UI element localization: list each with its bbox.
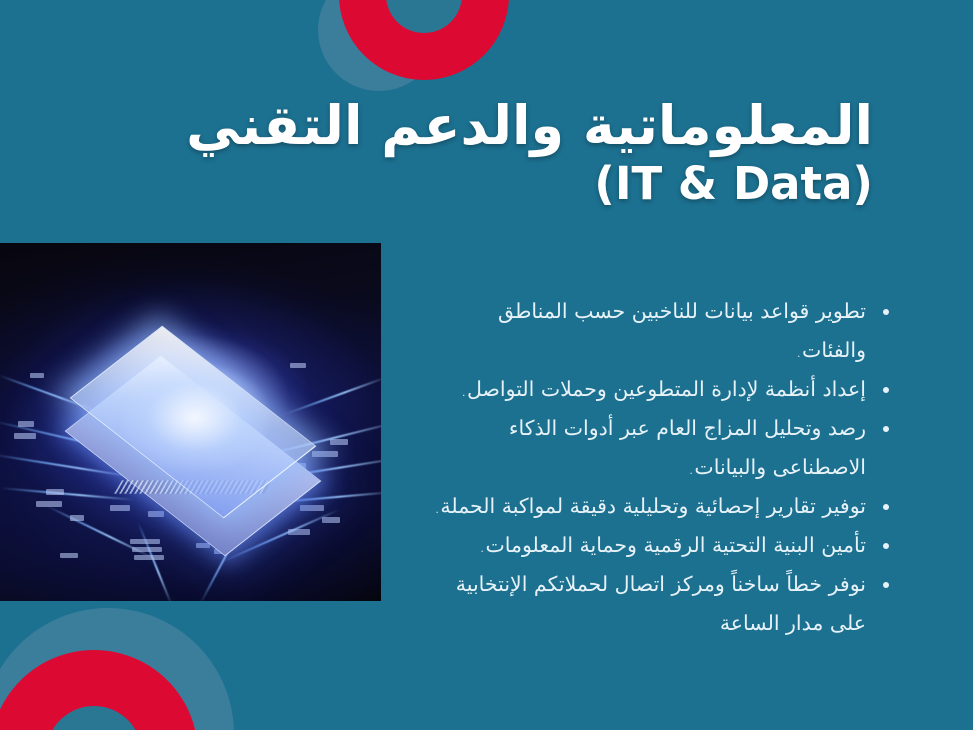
- list-item: إعداد أنظمة لإدارة المتطوعين وحملات التو…: [423, 370, 893, 409]
- circuit-board-artwork: [0, 243, 381, 601]
- slide-title: المعلوماتية والدعم التقني (IT & Data): [173, 96, 873, 213]
- list-item: تطوير قواعد بيانات للناخبين حسب المناطق …: [423, 292, 893, 370]
- slide-canvas: المعلوماتية والدعم التقني (IT & Data): [0, 0, 973, 730]
- list-item: رصد وتحليل المزاج العام عبر أدوات الذكاء…: [423, 409, 893, 487]
- title-line-english: (IT & Data): [173, 156, 873, 212]
- list-item: توفير تقارير إحصائية وتحليلية دقيقة لموا…: [423, 487, 893, 526]
- chip-glow: [120, 363, 270, 473]
- title-line-arabic: المعلوماتية والدعم التقني: [173, 96, 873, 156]
- microchip-photo: [0, 243, 381, 601]
- list-item: تأمين البنية التحتية الرقمية وحماية المع…: [423, 526, 893, 565]
- list-item: نوفر خطاً ساخناً ومركز اتصال لحملاتكم ال…: [423, 565, 893, 643]
- feature-bullet-list: تطوير قواعد بيانات للناخبين حسب المناطق …: [423, 292, 893, 643]
